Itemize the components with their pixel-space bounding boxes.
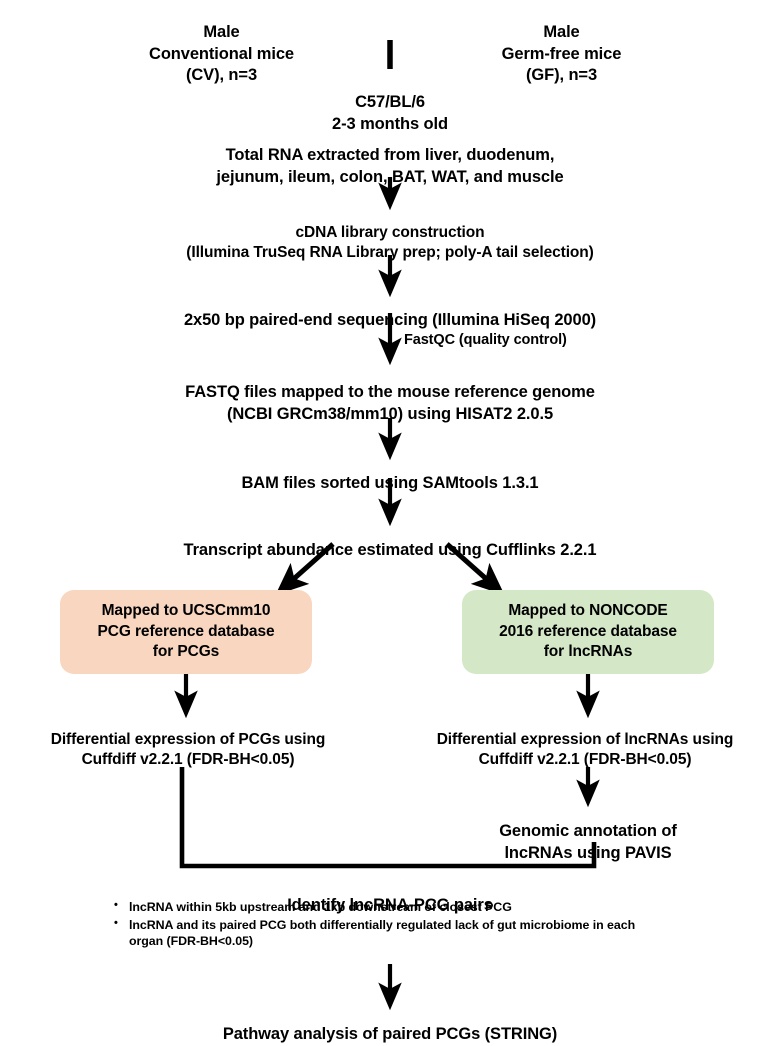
node-lncrna-reference-box: Mapped to NONCODE 2016 reference databas… [462,590,714,674]
node-rna-extraction-label: Total RNA extracted from liver, duodenum… [216,146,563,185]
node-genome-mapping-label: FASTQ files mapped to the mouse referenc… [185,383,595,422]
node-rna-extraction: Total RNA extracted from liver, duodenum… [100,124,680,188]
flowchart-canvas: Male Conventional mice (CV), n=3 Male Ge… [0,0,778,1030]
node-fastqc-label: FastQC (quality control) [404,332,567,348]
node-pathway-analysis: Pathway analysis of paired PCGs (STRING) [140,1003,640,1046]
criteria-list: lncRNA within 5kb upstream and 1kb downs… [112,899,652,951]
node-transcript-abundance: Transcript abundance estimated using Cuf… [100,519,680,562]
node-de-lncrna: Differential expression of lncRNAs using… [392,710,778,770]
node-pcg-reference-label: Mapped to UCSCmm10 PCG reference databas… [98,601,275,663]
node-sequencing-label: 2x50 bp paired-end sequencing (Illumina … [184,311,596,329]
node-pathway-analysis-label: Pathway analysis of paired PCGs (STRING) [223,1025,557,1043]
node-genomic-annotation: Genomic annotation of lncRNAs using PAVI… [448,800,728,864]
node-pcg-reference-box: Mapped to UCSCmm10 PCG reference databas… [60,590,312,674]
node-cdna-library: cDNA library construction (Illumina TruS… [45,203,735,263]
node-fastqc-text: FastQC (quality control) [404,332,567,348]
node-de-pcg: Differential expression of PCGs using Cu… [0,710,376,770]
criteria-list-items: lncRNA within 5kb upstream and 1kb downs… [112,899,652,950]
node-genomic-annotation-label: Genomic annotation of lncRNAs using PAVI… [499,822,677,861]
node-sequencing: 2x50 bp paired-end sequencing (Illumina … [80,289,700,332]
list-item: lncRNA within 5kb upstream and 1kb downs… [112,899,652,916]
node-bam-sorting-label: BAM files sorted using SAMtools 1.3.1 [241,474,538,492]
list-item: lncRNA and its paired PCG both different… [112,917,652,950]
node-de-pcg-label: Differential expression of PCGs using Cu… [51,731,326,768]
node-lncrna-reference-label: Mapped to NONCODE 2016 reference databas… [499,601,677,663]
node-de-lncrna-label: Differential expression of lncRNAs using… [437,731,734,768]
node-cdna-library-label: cDNA library construction (Illumina TruS… [186,224,593,261]
node-genome-mapping: FASTQ files mapped to the mouse referenc… [90,361,690,425]
node-bam-sorting: BAM files sorted using SAMtools 1.3.1 [140,452,640,495]
node-transcript-abundance-label: Transcript abundance estimated using Cuf… [184,541,597,559]
